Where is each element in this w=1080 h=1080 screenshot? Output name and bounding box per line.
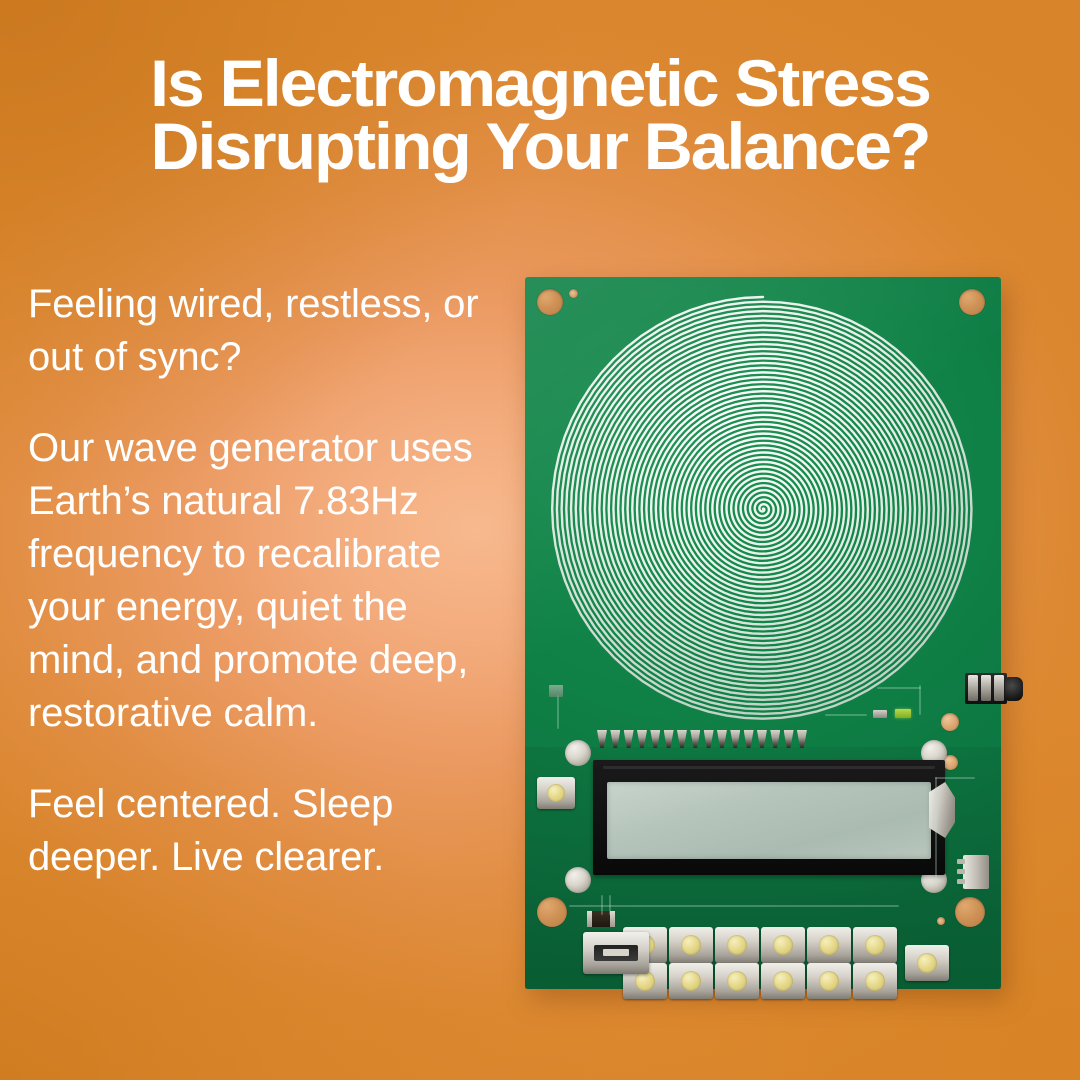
poster-canvas: Is Electromagnetic Stress Disrupting You… — [0, 0, 1080, 1080]
header-pin — [637, 730, 647, 748]
jack-pin-1 — [968, 675, 978, 701]
header-pin — [610, 730, 620, 748]
header-pin — [624, 730, 634, 748]
trace-right-outline — [935, 777, 937, 885]
spiral-antenna-coil — [543, 287, 983, 727]
keypad-button-r2c3[interactable] — [715, 963, 759, 999]
switch-leg-top — [957, 859, 965, 864]
header-pin — [757, 730, 767, 748]
button-cap — [773, 935, 793, 955]
header-pin — [690, 730, 700, 748]
header-pin — [797, 730, 807, 748]
headline-line-1: Is Electromagnetic Stress — [0, 52, 1080, 115]
button-cap — [917, 953, 937, 973]
button-cap — [819, 935, 839, 955]
button-cap — [681, 971, 701, 991]
trace-coil-inner-lead — [557, 695, 559, 729]
keypad-button-r1c5[interactable] — [807, 927, 851, 963]
keypad-button-r1c6[interactable] — [853, 927, 897, 963]
trace-jack-feed — [919, 685, 921, 715]
headline: Is Electromagnetic Stress Disrupting You… — [0, 52, 1080, 177]
header-pin — [650, 730, 660, 748]
slide-switch[interactable] — [957, 855, 993, 889]
lcd-pin-header — [597, 730, 807, 750]
body-copy: Feeling wired, restless, or out of sync?… — [28, 278, 506, 884]
header-pin — [677, 730, 687, 748]
button-cap — [547, 784, 565, 802]
jack-pin-3 — [994, 675, 1004, 701]
button-cap — [681, 935, 701, 955]
jack-pin-2 — [981, 675, 991, 701]
switch-body — [963, 855, 989, 889]
lcd-bezel-slot — [603, 766, 935, 769]
trace-usb-data — [609, 895, 611, 915]
headline-line-2: Disrupting Your Balance? — [0, 115, 1080, 178]
status-led — [895, 709, 911, 718]
trace-coil-return — [877, 687, 921, 689]
smd-pad-left — [587, 911, 592, 927]
keypad-button-r2c6[interactable] — [853, 963, 897, 999]
silkscreen-marker-left — [549, 685, 563, 697]
audio-jack-3.5mm[interactable] — [965, 669, 1021, 709]
switch-leg-bottom — [957, 879, 965, 884]
button-cap — [865, 935, 885, 955]
header-pin — [597, 730, 607, 748]
micro-usb-port[interactable] — [583, 932, 649, 974]
keypad-button-r2c5[interactable] — [807, 963, 851, 999]
header-pin — [744, 730, 754, 748]
button-cap — [865, 971, 885, 991]
lcd-standoff-bottom-left — [565, 867, 591, 893]
button-cap — [635, 971, 655, 991]
trace-coil-to-jack — [825, 714, 867, 716]
button-cap — [819, 971, 839, 991]
lcd-display-16x2 — [593, 760, 945, 875]
button-cap — [727, 971, 747, 991]
pcb-board — [525, 277, 1001, 989]
via-hole-bottom-right — [937, 917, 945, 925]
switch-leg-mid — [957, 869, 965, 874]
keypad-button-extra[interactable] — [905, 945, 949, 981]
smd-resistor-near-led — [873, 710, 887, 718]
keypad-button-r1c3[interactable] — [715, 927, 759, 963]
body-paragraph-2: Our wave generator uses Earth’s natural … — [28, 422, 506, 740]
usb-tongue — [603, 949, 629, 956]
keypad-button-r1c2[interactable] — [669, 927, 713, 963]
keypad-button-r1c4[interactable] — [761, 927, 805, 963]
header-pin — [784, 730, 794, 748]
mounting-hole-bottom-left — [537, 897, 567, 927]
keypad-button-r2c4[interactable] — [761, 963, 805, 999]
keypad-button-r2c2[interactable] — [669, 963, 713, 999]
header-pin — [770, 730, 780, 748]
header-pin — [730, 730, 740, 748]
button-cap — [773, 971, 793, 991]
lcd-screen — [607, 782, 931, 859]
jack-barrel — [1005, 677, 1023, 701]
header-pin — [717, 730, 727, 748]
trace-right-branch — [935, 777, 975, 779]
trace-usb-power — [601, 895, 603, 915]
body-paragraph-1: Feeling wired, restless, or out of sync? — [28, 278, 506, 384]
mounting-hole-bottom-right — [955, 897, 985, 927]
header-pin — [704, 730, 714, 748]
header-pin — [664, 730, 674, 748]
reset-button[interactable] — [537, 777, 575, 809]
lcd-standoff-top-left — [565, 740, 591, 766]
device-photo — [525, 277, 1001, 989]
keypad-bus-rail — [569, 905, 899, 907]
body-paragraph-3: Feel centered. Sleep deeper. Live cleare… — [28, 778, 506, 884]
button-cap — [727, 935, 747, 955]
